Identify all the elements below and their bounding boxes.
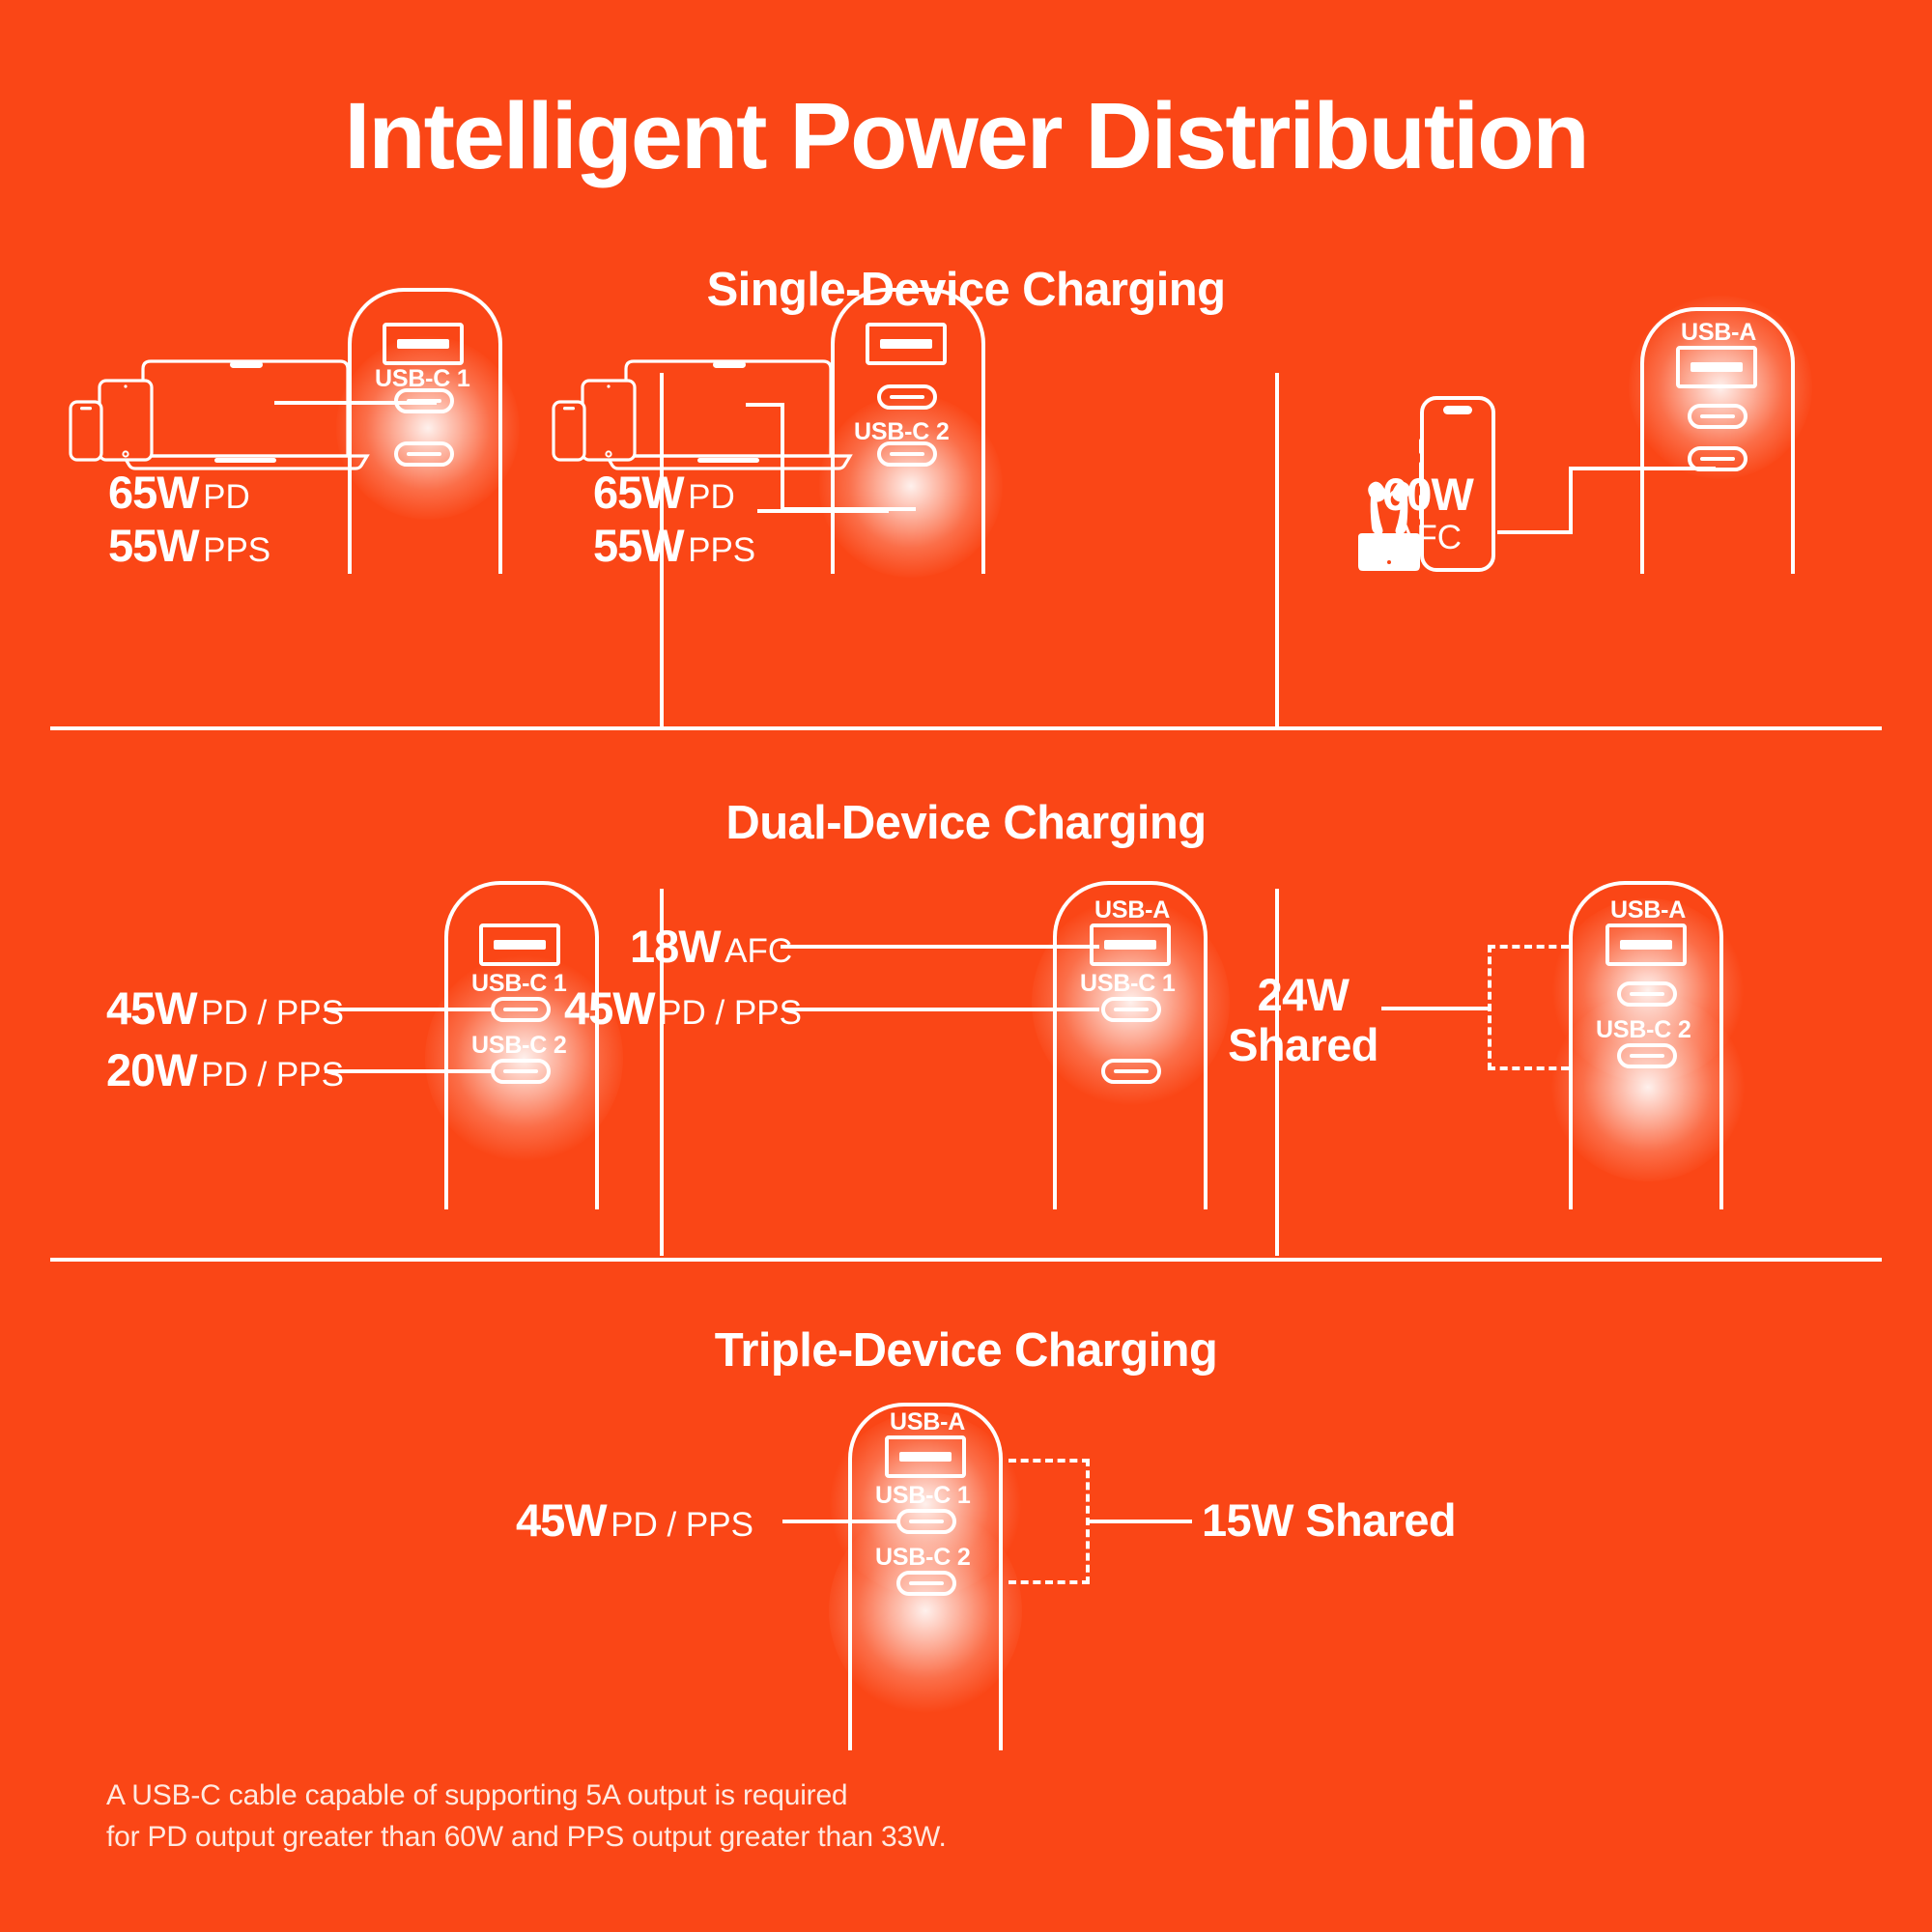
power-value: 45W: [106, 982, 197, 1034]
port-label-usbc1-dual-1: USB-C 1: [471, 970, 567, 998]
usb-a-port-icon: [1090, 923, 1171, 966]
usb-c-port-icon: [394, 388, 454, 413]
power-label-dual-3-shared: 24W Shared: [1211, 970, 1395, 1069]
leader-line-dual-2-a: [781, 945, 1099, 949]
usb-c-port-icon: [1617, 1043, 1677, 1068]
shared-bracket-triple: [1009, 1459, 1090, 1584]
usb-a-port-icon: [479, 923, 560, 966]
divider-horizontal-2: [50, 1258, 1882, 1262]
power-protocol: AFC: [1350, 520, 1505, 557]
usb-c-port-icon: [1688, 446, 1747, 471]
infographic-canvas: Intelligent Power Distribution Single-De…: [0, 0, 1932, 1932]
usb-c-port-icon: [896, 1571, 956, 1596]
power-value: 65W: [108, 467, 199, 518]
power-value: 20W: [106, 1044, 197, 1095]
port-label-usbc1-triple: USB-C 1: [875, 1482, 971, 1510]
power-value: 55W: [593, 520, 684, 571]
usb-a-port-icon: [383, 323, 464, 365]
shared-word: Shared: [1211, 1020, 1395, 1070]
leader-line-dual-3: [1381, 1007, 1490, 1010]
usb-c-port-icon: [394, 441, 454, 467]
power-label-single-3: 60W AFC: [1350, 469, 1505, 556]
usb-c-port-icon: [1101, 997, 1161, 1022]
port-label-usbc2-dual-1: USB-C 2: [471, 1032, 567, 1060]
power-label-single-1: 65W PD 55W PPS: [108, 466, 270, 573]
power-protocol: PD: [203, 478, 250, 516]
power-label-dual-1-row2: 20W PD / PPS: [106, 1045, 344, 1095]
usb-c-port-icon: [877, 384, 937, 410]
power-protocol: PPS: [688, 531, 755, 569]
port-label-usbc1-dual-2: USB-C 1: [1080, 970, 1176, 998]
usb-c-port-icon: [491, 1059, 551, 1084]
port-label-usba-dual-2: USB-A: [1094, 896, 1170, 924]
section-title-triple: Triple-Device Charging: [0, 1323, 1932, 1378]
port-label-usbc2-triple: USB-C 2: [875, 1544, 971, 1572]
power-value: 45W: [516, 1494, 607, 1546]
shared-value: 24W: [1211, 970, 1395, 1020]
usb-c-port-icon: [1688, 404, 1747, 429]
power-protocol: PD / PPS: [659, 994, 802, 1032]
leader-line-dual-2-b: [784, 1008, 1099, 1011]
usb-a-port-icon: [1676, 346, 1757, 388]
usb-c-port-icon: [491, 997, 551, 1022]
power-protocol: PD / PPS: [201, 994, 344, 1032]
usb-a-port-icon: [866, 323, 947, 365]
power-value: 60W: [1350, 469, 1505, 520]
power-protocol: PD: [688, 478, 735, 516]
device-group-phone-tablet-laptop: [68, 348, 377, 478]
port-label-usba-triple: USB-A: [890, 1408, 965, 1436]
power-label-triple-shared: 15W Shared: [1202, 1495, 1456, 1546]
divider-vertical-2: [1275, 373, 1279, 728]
divider-vertical-3: [660, 889, 664, 1256]
power-value: 45W: [564, 982, 655, 1034]
usb-a-port-icon: [885, 1435, 966, 1478]
port-label-usba-single-3: USB-A: [1681, 319, 1756, 347]
power-label-dual-2-row1: 18W AFC: [630, 922, 792, 972]
power-label-dual-1-row1: 45W PD / PPS: [106, 983, 344, 1034]
port-label-usba-dual-3: USB-A: [1610, 896, 1686, 924]
divider-vertical-4: [1275, 889, 1279, 1256]
power-protocol: AFC: [724, 932, 792, 970]
power-value: 55W: [108, 520, 199, 571]
usb-c-port-icon: [877, 441, 937, 467]
power-value: 18W: [630, 921, 721, 972]
shared-bracket-dual-3: [1488, 945, 1569, 1070]
power-value: 65W: [593, 467, 684, 518]
port-label-usbc2-dual-3: USB-C 2: [1596, 1016, 1691, 1044]
leader-line-triple-right: [1088, 1520, 1192, 1523]
power-protocol: PD / PPS: [611, 1506, 753, 1544]
power-protocol: PD / PPS: [201, 1056, 344, 1094]
divider-vertical-1: [660, 373, 664, 728]
section-title-dual: Dual-Device Charging: [0, 796, 1932, 850]
power-protocol: PPS: [203, 531, 270, 569]
leader-line-dual-1-a: [325, 1008, 495, 1011]
leader-line-triple-left: [782, 1520, 900, 1523]
usb-a-port-icon: [1605, 923, 1687, 966]
power-label-triple-left: 45W PD / PPS: [516, 1495, 753, 1546]
power-label-single-2: 65W PD 55W PPS: [593, 466, 755, 573]
usb-c-port-icon: [1617, 981, 1677, 1007]
power-label-dual-2-row2: 45W PD / PPS: [564, 983, 802, 1034]
footnote-text: A USB-C cable capable of supporting 5A o…: [106, 1776, 947, 1858]
usb-c-port-icon: [896, 1509, 956, 1534]
page-title: Intelligent Power Distribution: [0, 89, 1932, 183]
leader-line-dual-1-b: [325, 1069, 495, 1073]
usb-c-port-icon: [1101, 1059, 1161, 1084]
divider-horizontal-1: [50, 726, 1882, 730]
